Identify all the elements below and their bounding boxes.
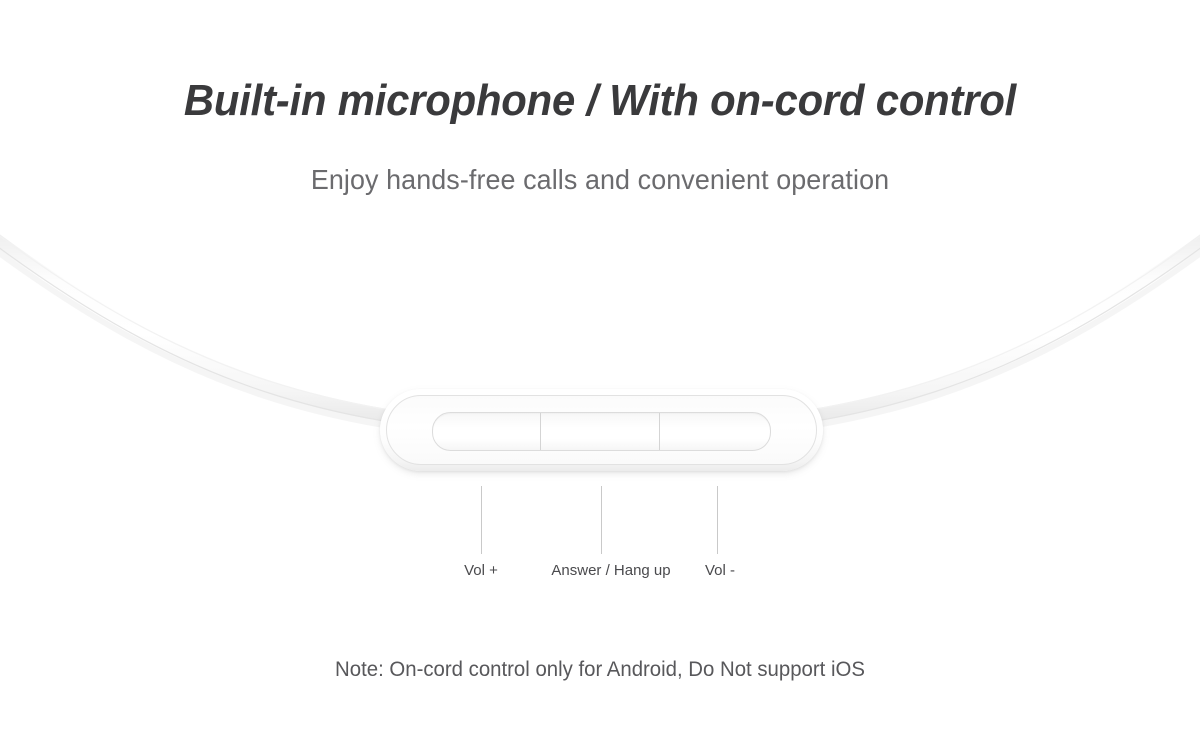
leader-line-vol-up xyxy=(481,486,482,554)
callout-label-answer-hangup: Answer / Hang up xyxy=(551,562,670,579)
button-divider-left xyxy=(540,413,541,450)
on-cord-control-module xyxy=(380,389,823,471)
remote-button-strip[interactable] xyxy=(432,412,771,451)
leader-line-answer-hangup xyxy=(601,486,602,554)
leader-line-vol-down xyxy=(717,486,718,554)
callout-label-vol-up: Vol + xyxy=(464,562,498,579)
product-feature-banner: Built-in microphone / With on-cord contr… xyxy=(0,0,1200,749)
page-title: Built-in microphone / With on-cord contr… xyxy=(30,76,1170,126)
compatibility-note: Note: On-cord control only for Android, … xyxy=(18,658,1182,682)
callout-label-vol-down: Vol - xyxy=(705,562,735,579)
page-subtitle: Enjoy hands-free calls and convenient op… xyxy=(24,164,1176,196)
button-divider-right xyxy=(659,413,660,450)
